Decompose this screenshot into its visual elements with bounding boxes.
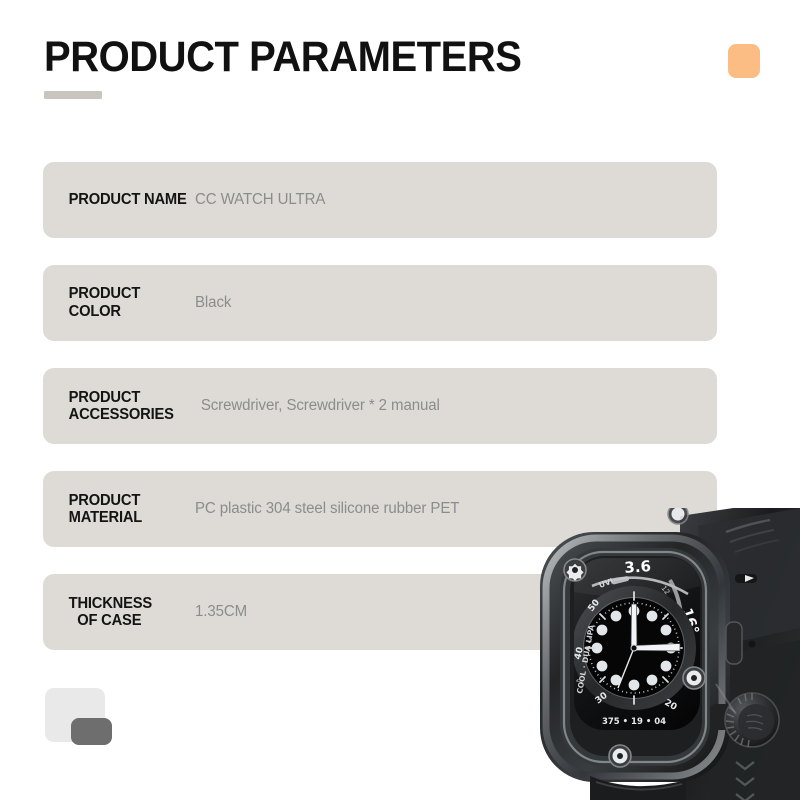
title-underline-accent [44,91,102,99]
page-header: PRODUCT PARAMETERS [0,0,800,150]
watch-metrics-label: 375 • 19 • 04 [602,717,666,727]
spec-label: PRODUCT ACCESSORIES [43,389,187,423]
spec-label: PRODUCT NAME [43,191,187,209]
table-row: PRODUCT COLOR Black [43,265,717,341]
spec-label-line1: PRODUCT COLOR [69,285,140,320]
watch-product-image: 3.6 UVI 16° 12 21 [530,508,800,800]
product-parameters-page: PRODUCT PARAMETERS PRODUCT NAME CC WATCH… [0,0,800,800]
spec-value: CC WATCH ULTRA [195,191,701,209]
spec-label-line1: PRODUCT [69,492,140,509]
table-row: PRODUCT ACCESSORIES Screwdriver, Screwdr… [43,368,717,444]
page-title: PRODUCT PARAMETERS [44,32,521,82]
color-swatch-group [45,688,125,748]
swatch-dark[interactable] [71,718,112,745]
accent-square-decoration [728,44,760,78]
spec-label-line1: PRODUCT [69,389,140,406]
svg-text:3.6: 3.6 [624,557,652,577]
spec-value: Screwdriver, Screwdriver * 2 manual [195,397,701,415]
spec-value: Black [195,294,701,312]
spec-label-line2: MATERIAL [69,509,142,526]
spec-label-line1: PRODUCT NAME [69,191,187,208]
table-row: PRODUCT NAME CC WATCH ULTRA [43,162,717,238]
spec-label: PRODUCT MATERIAL [43,492,187,526]
spec-label-line2: ACCESSORIES [69,406,174,423]
spec-label-line2: OF CASE [69,612,142,629]
spec-label-line1: THICKNESS [69,595,152,612]
spec-label: PRODUCT COLOR [43,285,187,321]
spec-label: THICKNESS OF CASE [43,595,187,629]
